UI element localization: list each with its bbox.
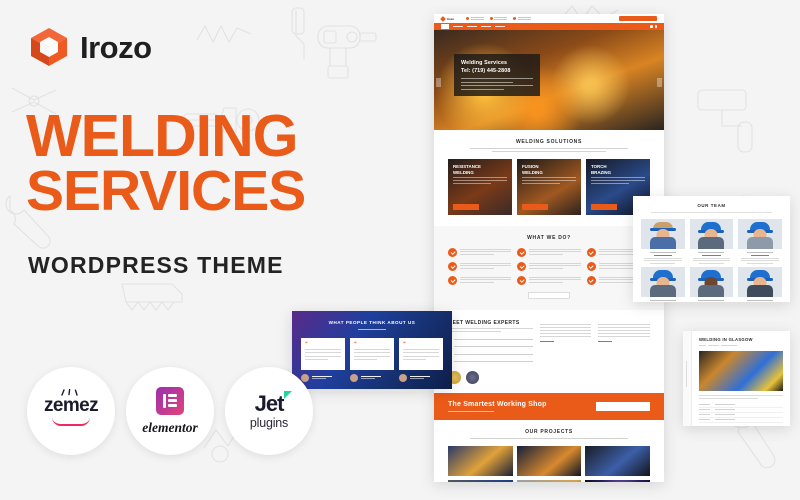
feature-item[interactable] <box>517 248 580 257</box>
cube-logo-icon <box>28 26 70 68</box>
meet-experts-section: MEET WELDING EXPERTS ✓ ✓ ✓ ✓ <box>434 310 664 393</box>
member-bio <box>690 258 734 264</box>
cta-band: The Smartest Working Shop <box>434 393 664 420</box>
side-rail <box>683 331 692 426</box>
jet-subtext: plugins <box>250 416 288 430</box>
project-image <box>699 351 783 391</box>
expert-article[interactable] <box>598 320 650 384</box>
check-icon <box>587 248 596 257</box>
check-icon <box>517 262 526 271</box>
card-button[interactable] <box>591 204 617 210</box>
silver-seal-icon <box>466 371 479 384</box>
section-heading: WELDING SOLUTIONS <box>448 139 650 145</box>
mockup-logo-text: Irozo <box>447 17 454 21</box>
view-all-services-row <box>448 292 650 299</box>
team-member[interactable] <box>738 219 782 263</box>
jet-wordmark: Jet <box>255 393 284 415</box>
breadcrumb[interactable] <box>699 345 783 346</box>
card-text <box>453 177 507 184</box>
team-grid <box>641 219 782 302</box>
member-name <box>650 252 676 253</box>
member-name <box>698 300 724 301</box>
member-bio <box>641 258 685 264</box>
mockup-navbar[interactable] <box>434 23 664 30</box>
badge-row: zemez elementor Jet plugins <box>27 367 313 455</box>
check-icon <box>587 262 596 271</box>
clock-icon <box>490 17 493 20</box>
welding-solutions-section: WELDING SOLUTIONS RESISTANCE WELDING FUS… <box>434 130 664 226</box>
member-name <box>747 252 773 253</box>
contact-hours <box>490 17 508 21</box>
table-row <box>699 418 783 423</box>
avatar <box>690 267 734 297</box>
project-heading: WELDING IN GLASGOW <box>699 337 783 342</box>
cta-band-button[interactable] <box>596 402 650 411</box>
cart-icon[interactable] <box>655 25 658 28</box>
project-thumb[interactable] <box>448 480 513 482</box>
card-text <box>591 177 645 184</box>
view-all-services-button[interactable] <box>528 292 570 299</box>
cta-band-title: The Smartest Working Shop <box>448 401 547 408</box>
cta-band-subtitle <box>448 411 494 412</box>
page-subtitle: WORDPRESS THEME <box>28 252 284 279</box>
checklist-item: ✓ <box>448 338 533 342</box>
promo-panel: Irozo WELDING SERVICES WORDPRESS THEME z… <box>0 0 430 500</box>
team-member[interactable] <box>641 267 685 302</box>
project-paragraph <box>699 395 783 399</box>
section-subtext <box>470 438 628 439</box>
feature-item[interactable] <box>517 276 580 285</box>
solution-card[interactable]: FUSION WELDING <box>517 159 581 215</box>
card-button[interactable] <box>522 204 548 210</box>
mockup-cta-button[interactable] <box>619 16 657 21</box>
avatar <box>641 267 685 297</box>
divider <box>651 212 772 213</box>
team-member[interactable] <box>738 267 782 302</box>
checklist-item: ✓ <box>448 360 533 364</box>
check-icon <box>448 248 457 257</box>
phone-icon <box>513 17 516 20</box>
avatar <box>738 219 782 249</box>
contact-phone <box>513 17 531 21</box>
project-thumb[interactable] <box>585 446 650 476</box>
certification-seals <box>448 371 533 384</box>
nav-item-about[interactable] <box>453 26 463 27</box>
badge-jetplugins[interactable]: Jet plugins <box>225 367 313 455</box>
check-icon <box>448 262 457 271</box>
nav-item-contacts[interactable] <box>495 26 505 27</box>
search-icon[interactable] <box>650 25 653 28</box>
member-role <box>654 255 672 256</box>
avatar <box>738 267 782 297</box>
check-icon <box>448 276 457 285</box>
team-member[interactable] <box>690 267 734 302</box>
avatar <box>641 219 685 249</box>
mockup-logo: Irozo <box>441 17 454 21</box>
hero-paragraph <box>461 78 533 90</box>
elementor-square-icon <box>156 387 184 415</box>
team-mockup[interactable]: OUR TEAM <box>633 196 790 302</box>
member-role <box>751 255 769 256</box>
zemez-sparkle-icon <box>60 389 82 396</box>
team-member[interactable] <box>690 219 734 263</box>
badge-zemez[interactable]: zemez <box>27 367 115 455</box>
member-bio <box>738 258 782 264</box>
nav-item-home[interactable] <box>441 24 449 29</box>
section-subtext <box>470 148 628 152</box>
badge-elementor[interactable]: elementor <box>126 367 214 455</box>
solution-card-row: RESISTANCE WELDING FUSION WELDING TORCH … <box>448 159 650 215</box>
homepage-mockup[interactable]: Irozo Welding Services Tel: (719) 445-28… <box>434 14 664 482</box>
hero-next-arrow[interactable] <box>657 78 662 87</box>
card-text <box>522 177 576 184</box>
member-name <box>698 252 724 253</box>
elementor-wordmark: elementor <box>142 420 198 436</box>
card-title-2: WELDING <box>522 170 576 176</box>
hero-title-line-2: Tel: (719) 445-2808 <box>461 68 533 76</box>
card-title-2: WELDING <box>453 170 507 176</box>
project-body: WELDING IN GLASGOW <box>692 331 790 426</box>
check-icon <box>517 276 526 285</box>
zemez-wordmark: zemez <box>44 396 98 415</box>
pin-icon <box>466 17 469 20</box>
project-thumb[interactable] <box>517 480 582 482</box>
project-thumb[interactable] <box>585 480 650 482</box>
mockup-contact-group <box>466 17 531 21</box>
project-thumb[interactable] <box>448 446 513 476</box>
jet-wordmark-text: Jet <box>255 391 284 416</box>
feature-item[interactable] <box>448 262 511 271</box>
expert-article[interactable] <box>540 320 592 384</box>
vertical-label <box>686 361 687 387</box>
read-more-link[interactable] <box>598 341 612 342</box>
hero-prev-arrow[interactable] <box>436 78 441 87</box>
section-heading: MEET WELDING EXPERTS <box>448 320 533 326</box>
project-gallery <box>448 446 650 482</box>
feature-item[interactable] <box>517 262 580 271</box>
read-more-link[interactable] <box>540 341 554 342</box>
details-table <box>699 403 783 423</box>
page-title: WELDING SERVICES <box>26 108 416 218</box>
project-detail-mockup[interactable]: WELDING IN GLASGOW <box>683 331 790 426</box>
cube-logo-icon <box>440 16 446 22</box>
team-heading: OUR TEAM <box>641 203 782 208</box>
card-button[interactable] <box>453 204 479 210</box>
nav-item-services[interactable] <box>467 26 477 27</box>
check-icon <box>587 276 596 285</box>
mockup-topbar: Irozo <box>434 14 664 23</box>
our-projects-section: OUR PROJECTS <box>434 420 664 482</box>
project-thumb[interactable] <box>517 446 582 476</box>
hero-title-line-1: Welding Services <box>461 60 533 68</box>
avatar <box>690 219 734 249</box>
hero-text-box: Welding Services Tel: (719) 445-2808 <box>454 54 540 96</box>
brand-logo[interactable]: Irozo <box>28 26 152 68</box>
check-icon <box>517 248 526 257</box>
member-role <box>702 255 720 256</box>
feature-item[interactable] <box>448 276 511 285</box>
checklist-item: ✓ <box>448 345 533 349</box>
brand-name: Irozo <box>80 32 152 63</box>
member-name <box>650 300 676 301</box>
checklist-item: ✓ <box>448 352 533 356</box>
hardhat-icon <box>653 222 673 229</box>
nav-item-projects[interactable] <box>481 26 491 27</box>
experts-paragraph <box>448 328 533 332</box>
mockup-hero: Welding Services Tel: (719) 445-2808 <box>434 30 664 130</box>
contact-address <box>466 17 484 21</box>
member-name <box>747 300 773 301</box>
headline-line-1: WELDING <box>26 108 416 164</box>
jet-triangle-icon <box>284 391 292 399</box>
feature-item[interactable] <box>448 248 511 257</box>
zemez-smile-icon <box>52 417 90 426</box>
section-heading: OUR PROJECTS <box>448 429 650 435</box>
what-we-do-section: WHAT WE DO? <box>434 226 664 310</box>
experts-copy: MEET WELDING EXPERTS ✓ ✓ ✓ ✓ <box>448 320 533 384</box>
feature-grid <box>448 248 650 285</box>
card-title-2: BRAZING <box>591 170 645 176</box>
section-heading: WHAT WE DO? <box>448 235 650 241</box>
headline-line-2: SERVICES <box>26 164 416 218</box>
solution-card[interactable]: RESISTANCE WELDING <box>448 159 512 215</box>
team-member[interactable] <box>641 219 685 263</box>
